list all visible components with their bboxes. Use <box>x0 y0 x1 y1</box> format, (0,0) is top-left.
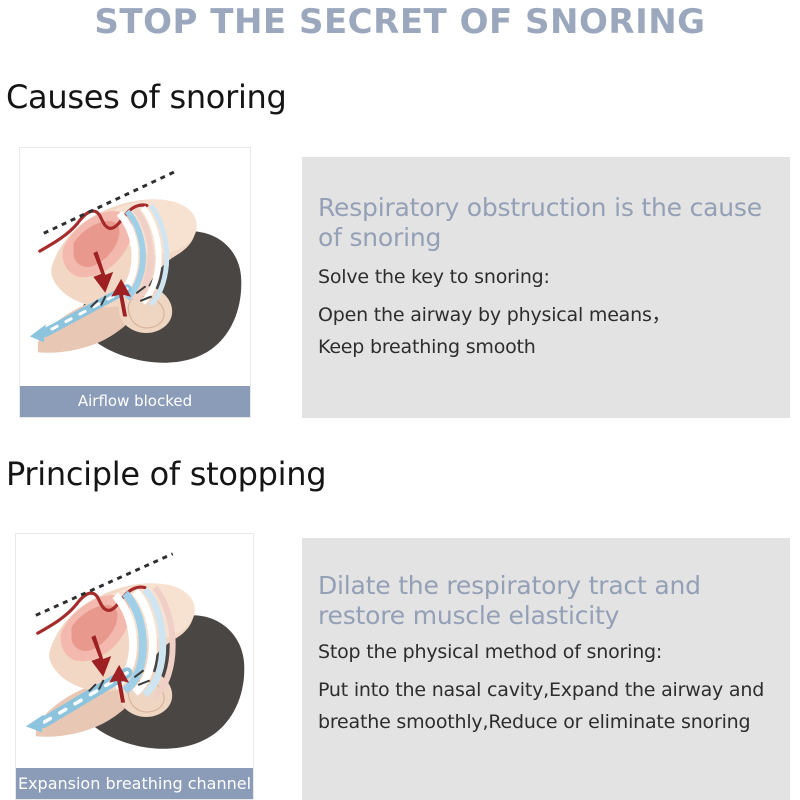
illustration-card-blocked-airway: Airflow blocked <box>19 147 251 418</box>
caption-expansion-breathing-channel: Expansion breathing channel <box>16 768 253 799</box>
text-panel-causes: Respiratory obstruction is the cause of … <box>302 157 790 418</box>
illustration-card-expanded-airway: Expansion breathing channel <box>15 533 254 800</box>
panel-body-line: Stop the physical method of snoring: <box>318 636 782 668</box>
page-title: STOP THE SECRET OF SNORING <box>0 2 800 42</box>
panel-heading-respiratory-obstruction: Respiratory obstruction is the cause of … <box>318 193 780 253</box>
panel-body-line: Keep breathing smooth <box>318 331 782 363</box>
panel-body-line: Put into the nasal cavity,Expand the air… <box>318 674 782 738</box>
panel-body-causes: Solve the key to snoring: Open the airwa… <box>318 261 782 363</box>
expanded-airway-illustration <box>16 534 253 768</box>
panel-heading-dilate-respiratory-tract: Dilate the respiratory tract and restore… <box>318 571 780 631</box>
snoring-blocked-airway-illustration <box>20 148 250 386</box>
panel-body-principle: Stop the physical method of snoring: Put… <box>318 636 782 738</box>
section-heading-causes: Causes of snoring <box>6 78 287 116</box>
panel-body-line: Solve the key to snoring: <box>318 261 782 293</box>
panel-body-line: Open the airway by physical means， <box>318 299 782 331</box>
section-heading-principle: Principle of stopping <box>6 455 326 493</box>
text-panel-principle: Dilate the respiratory tract and restore… <box>302 538 790 800</box>
caption-airflow-blocked: Airflow blocked <box>20 386 250 417</box>
